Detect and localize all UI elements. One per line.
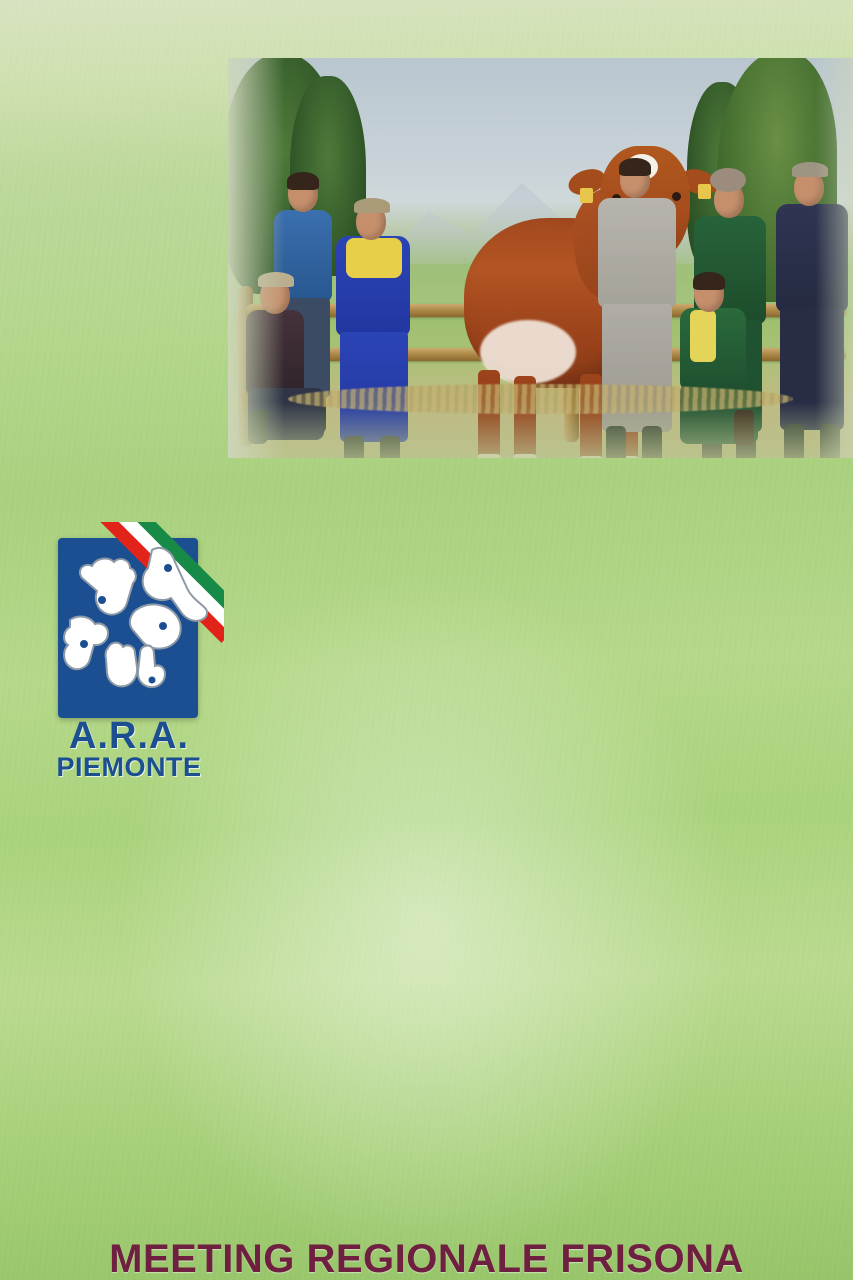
cow-ear-tag: [698, 184, 711, 199]
cow-muzzle: [620, 226, 666, 264]
event-poster: A.R.A. PIEMONTE MEETING REGIONALE FRISON…: [0, 0, 853, 1280]
cow-hoof: [615, 456, 639, 458]
fence-post: [564, 292, 579, 442]
cow-eye: [612, 194, 621, 203]
cow-leg: [616, 370, 638, 458]
tree: [687, 82, 757, 272]
cow-hoof: [579, 456, 603, 458]
cow-hoof: [513, 454, 537, 458]
cow-body: [464, 218, 646, 388]
fence-post: [238, 286, 253, 446]
cow-leg: [514, 376, 536, 458]
cow-neck: [566, 180, 677, 308]
tree: [228, 58, 342, 294]
cow-ear: [565, 165, 609, 200]
logo-line-2: PIEMONTE: [34, 754, 224, 781]
group-photo: [228, 58, 853, 458]
cow-leg: [478, 370, 500, 458]
fence-rail: [246, 304, 846, 317]
mountain-backdrop: [378, 154, 738, 264]
cow-ear: [677, 165, 721, 200]
cow-head: [600, 146, 690, 264]
cow-eye: [672, 192, 681, 201]
ground: [228, 308, 853, 458]
hero-photo-area: [0, 0, 853, 470]
tree: [717, 58, 837, 302]
logo-wordmark: A.R.A. PIEMONTE: [34, 718, 224, 781]
logo-animal-silhouettes: [34, 522, 224, 732]
fence-rail: [246, 348, 846, 361]
cow-blaze: [626, 154, 658, 180]
straw: [288, 384, 793, 414]
logo-line-1: A.R.A.: [34, 718, 224, 754]
cow-marking: [480, 320, 576, 384]
cow-hoof: [477, 454, 501, 458]
cow-leg: [580, 374, 602, 458]
cow-ear-tag: [580, 188, 593, 203]
poster-title: MEETING REGIONALE FRISONA: [0, 1237, 853, 1280]
tree: [290, 76, 366, 276]
ara-piemonte-logo: A.R.A. PIEMONTE: [34, 522, 224, 802]
